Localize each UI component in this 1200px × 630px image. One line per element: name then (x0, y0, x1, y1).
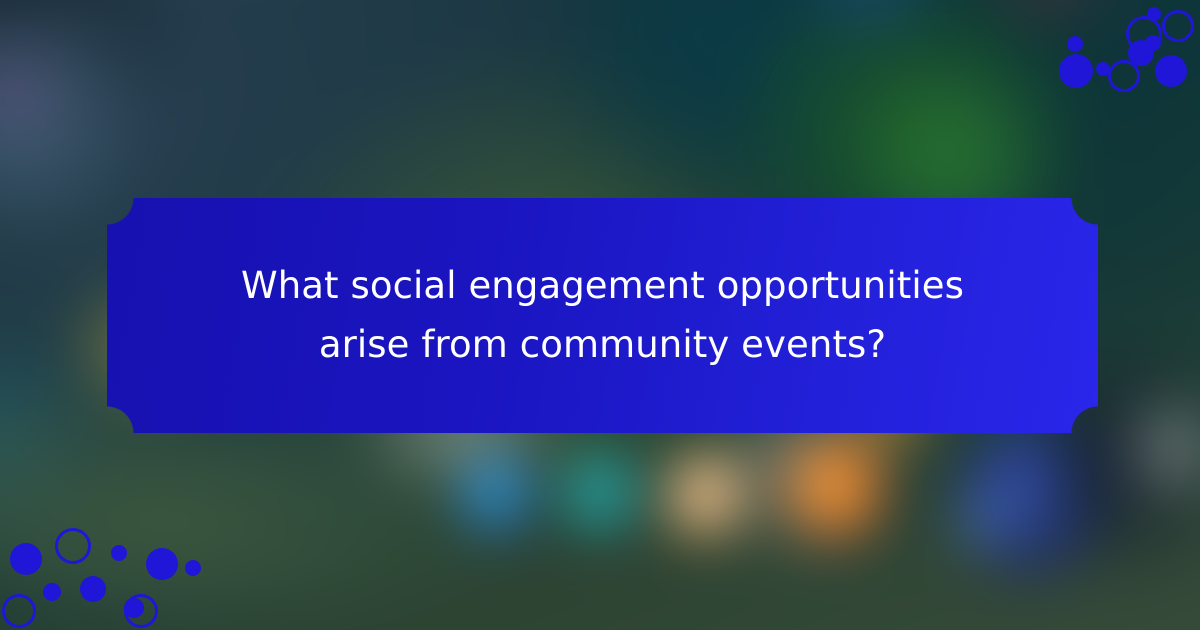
background-hud-icon (668, 453, 742, 538)
background-hud-icon (566, 453, 636, 536)
background-hud-icon (950, 490, 1014, 554)
background-hud-icon (462, 453, 532, 536)
question-card: What social engagement opportunities ari… (107, 198, 1098, 433)
background-hud-icon (791, 437, 882, 539)
question-card-canvas: What social engagement opportunities ari… (0, 0, 1200, 630)
question-text-container: What social engagement opportunities ari… (107, 198, 1098, 433)
question-text: What social engagement opportunities ari… (208, 257, 998, 374)
